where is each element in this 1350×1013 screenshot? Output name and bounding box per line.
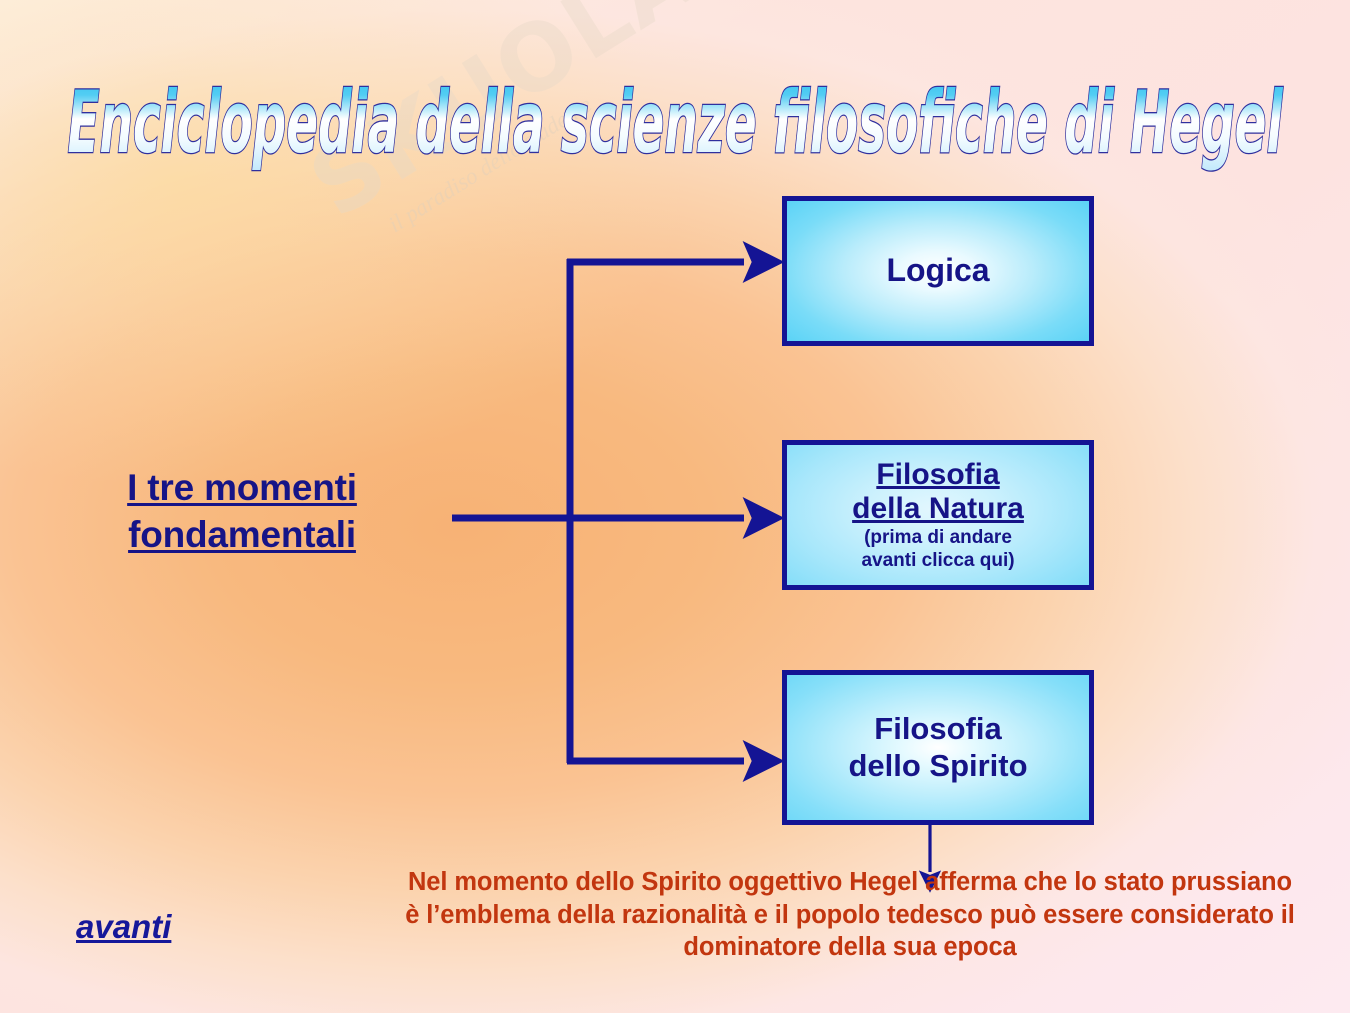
box-logica-content: Logica xyxy=(787,253,1089,288)
bottom-note: Nel momento dello Spirito oggettivo Hege… xyxy=(355,866,1345,964)
box-spirito-content: Filosofia dello Spirito xyxy=(787,711,1089,784)
left-heading-line-2: fondamentali xyxy=(128,511,356,558)
page-title: Enciclopedia della scienze filosofiche d… xyxy=(0,62,1350,192)
box-filosofia-della-natura[interactable]: Filosofia della Natura (prima di andare … xyxy=(782,440,1094,590)
svg-text:Enciclopedia della scienze fil: Enciclopedia della scienze filosofiche d… xyxy=(68,73,1284,173)
bottom-note-line-2: è l’emblema della razionalità e il popol… xyxy=(405,901,1295,929)
box-natura-title-line-2: della Natura xyxy=(852,492,1024,525)
avanti-link[interactable]: avanti xyxy=(76,908,171,946)
box-natura-title: Filosofia della Natura xyxy=(795,458,1081,525)
box-spirito-line-2: dello Spirito xyxy=(848,748,1027,783)
box-natura-subtitle-line-2: avanti clicca qui) xyxy=(861,550,1014,571)
box-natura-subtitle: (prima di andare avanti clicca qui) xyxy=(795,527,1081,572)
title-wordart: Enciclopedia della scienze filosofiche d… xyxy=(50,62,1300,182)
bottom-note-line-3: dominatore della sua epoca xyxy=(683,933,1016,961)
box-natura-subtitle-line-1: (prima di andare xyxy=(864,527,1012,548)
bottom-note-line-1: Nel momento dello Spirito oggettivo Hege… xyxy=(408,868,1292,896)
box-filosofia-dello-spirito[interactable]: Filosofia dello Spirito xyxy=(782,670,1094,825)
box-logica[interactable]: Logica xyxy=(782,196,1094,346)
box-natura-content: Filosofia della Natura (prima di andare … xyxy=(787,458,1089,572)
left-heading[interactable]: I tre momenti fondamentali xyxy=(62,464,422,559)
box-natura-title-line-1: Filosofia xyxy=(876,458,999,491)
left-heading-line-1: I tre momenti xyxy=(127,464,357,511)
box-spirito-line-1: Filosofia xyxy=(874,711,1001,746)
slide-canvas: SKUOLA il paradiso dello studente Encicl… xyxy=(0,0,1350,1013)
box-logica-label: Logica xyxy=(886,252,989,288)
